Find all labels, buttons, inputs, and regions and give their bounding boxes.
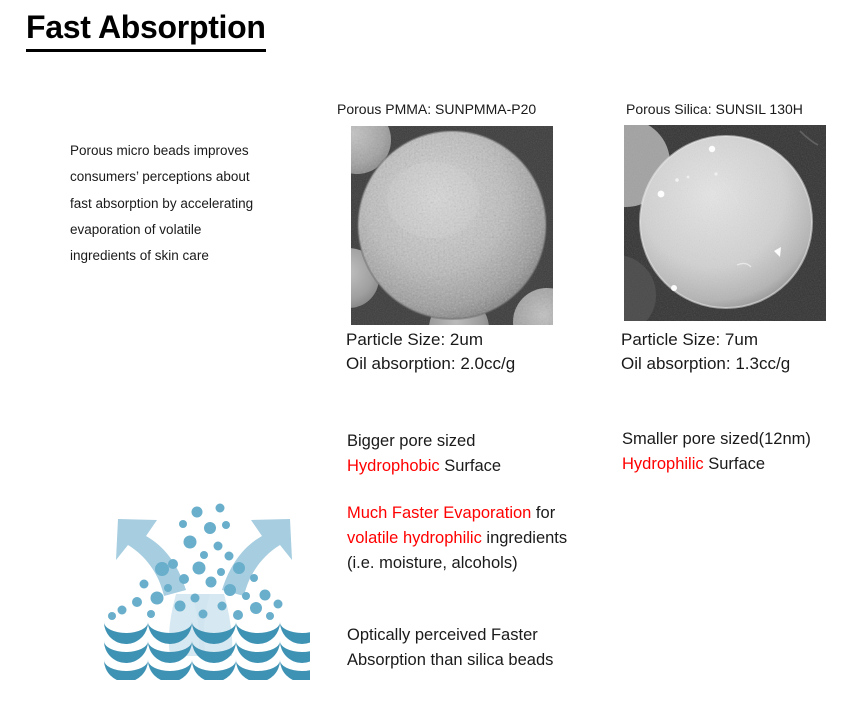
silica-pore-text: Smaller pore sized(12nm) (622, 427, 858, 452)
pmma-surface-suffix: Surface (440, 457, 501, 475)
pmma-particle-size: Particle Size: 2um (346, 328, 515, 352)
pmma-evaporation-description: Much Faster Evaporation for volatile hyd… (347, 501, 592, 575)
silica-column-header: Porous Silica: SUNSIL 130H (626, 101, 803, 117)
pmma-surface-line: Hydrophobic Surface (347, 454, 597, 479)
sem-porous-pmma-image (351, 126, 553, 325)
silica-surface-suffix: Surface (704, 455, 765, 473)
silica-surface-description: Smaller pore sized(12nm) Hydrophilic Sur… (622, 427, 858, 477)
intro-paragraph: Porous micro beads improves consumers’ p… (70, 138, 270, 270)
evaporation-highlight-1: Much Faster Evaporation (347, 504, 531, 522)
page-title: Fast Absorption (26, 8, 266, 52)
silica-oil-absorption: Oil absorption: 1.3cc/g (621, 352, 790, 376)
evaporation-from-water-icon (98, 498, 310, 680)
pmma-oil-absorption: Oil absorption: 2.0cc/g (346, 352, 515, 376)
pmma-surface-description: Bigger pore sized Hydrophobic Surface (347, 429, 597, 479)
silica-surface-line: Hydrophilic Surface (622, 452, 858, 477)
silica-particle-size: Particle Size: 7um (621, 328, 790, 352)
silica-surface-highlight: Hydrophilic (622, 455, 704, 473)
pmma-optical-description: Optically perceived Faster Absorption th… (347, 623, 597, 673)
evaporation-mid: for (531, 504, 555, 522)
left-evaporation-arrow (116, 519, 186, 596)
sem-porous-silica-image (624, 125, 826, 321)
silica-stats: Particle Size: 7um Oil absorption: 1.3cc… (621, 328, 790, 376)
pmma-stats: Particle Size: 2um Oil absorption: 2.0cc… (346, 328, 515, 376)
evaporation-highlight-2: volatile hydrophilic (347, 529, 482, 547)
pmma-surface-highlight: Hydrophobic (347, 457, 440, 475)
pmma-column-header: Porous PMMA: SUNPMMA-P20 (337, 101, 536, 117)
pmma-pore-text: Bigger pore sized (347, 429, 597, 454)
